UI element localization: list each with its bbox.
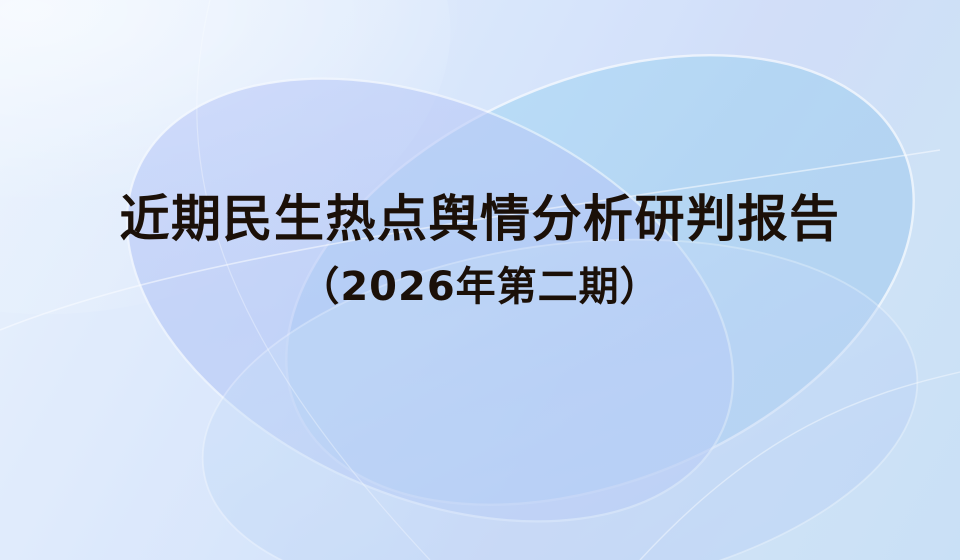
report-cover-slide: 近期民生热点舆情分析研判报告 （2026年第二期）: [0, 0, 960, 560]
page-title: 近期民生热点舆情分析研判报告: [0, 186, 960, 252]
page-subtitle: （2026年第二期）: [0, 260, 960, 314]
title-block: 近期民生热点舆情分析研判报告 （2026年第二期）: [0, 186, 960, 314]
